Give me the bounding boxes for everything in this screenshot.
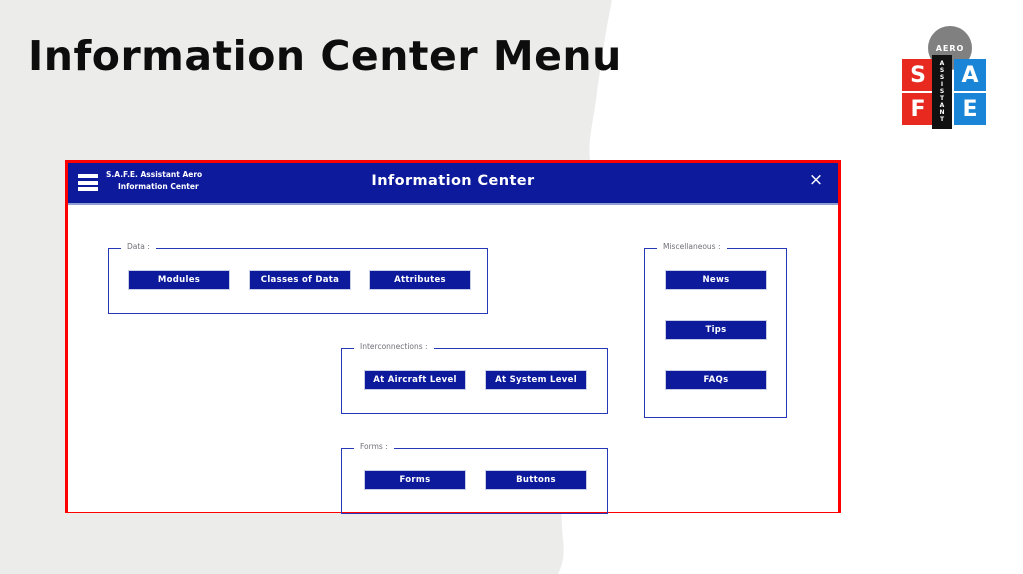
window-header: S.A.F.E. Assistant Aero Information Cent… [68,163,838,205]
button-at-aircraft-level[interactable]: At Aircraft Level [364,370,466,390]
logo-letter-e: E [954,93,986,125]
logo-letter-f: F [902,93,934,125]
group-miscellaneous-legend: Miscellaneous : [657,242,727,251]
logo-assistant-vertical-text: ASSISTANT [932,55,952,129]
button-modules[interactable]: Modules [128,270,230,290]
page-title: Information Center Menu [28,32,622,80]
logo-letter-a: A [954,59,986,91]
logo-letter-s: S [902,59,934,91]
application-window: S.A.F.E. Assistant Aero Information Cent… [65,160,841,513]
button-attributes[interactable]: Attributes [369,270,471,290]
button-classes-of-data[interactable]: Classes of Data [249,270,351,290]
group-data: Data : Modules Classes of Data Attribute… [108,248,488,314]
group-data-legend: Data : [121,242,156,251]
group-interconnections: Interconnections : At Aircraft Level At … [341,348,608,414]
window-title: Information Center [68,173,838,189]
aero-badge-label: AERO [936,44,965,53]
group-forms-legend: Forms : [354,442,394,451]
group-forms: Forms : Forms Buttons [341,448,608,514]
button-faqs[interactable]: FAQs [665,370,767,390]
safe-aero-logo: AERO S A F E ASSISTANT [899,26,999,126]
button-at-system-level[interactable]: At System Level [485,370,587,390]
window-body: Data : Modules Classes of Data Attribute… [68,205,838,512]
group-interconnections-legend: Interconnections : [354,342,434,351]
button-buttons[interactable]: Buttons [485,470,587,490]
slide-canvas: Information Center Menu AERO S A F E ASS… [0,0,1023,574]
button-tips[interactable]: Tips [665,320,767,340]
close-icon[interactable]: × [806,170,826,190]
button-news[interactable]: News [665,270,767,290]
button-forms[interactable]: Forms [364,470,466,490]
group-miscellaneous: Miscellaneous : News Tips FAQs [644,248,787,418]
